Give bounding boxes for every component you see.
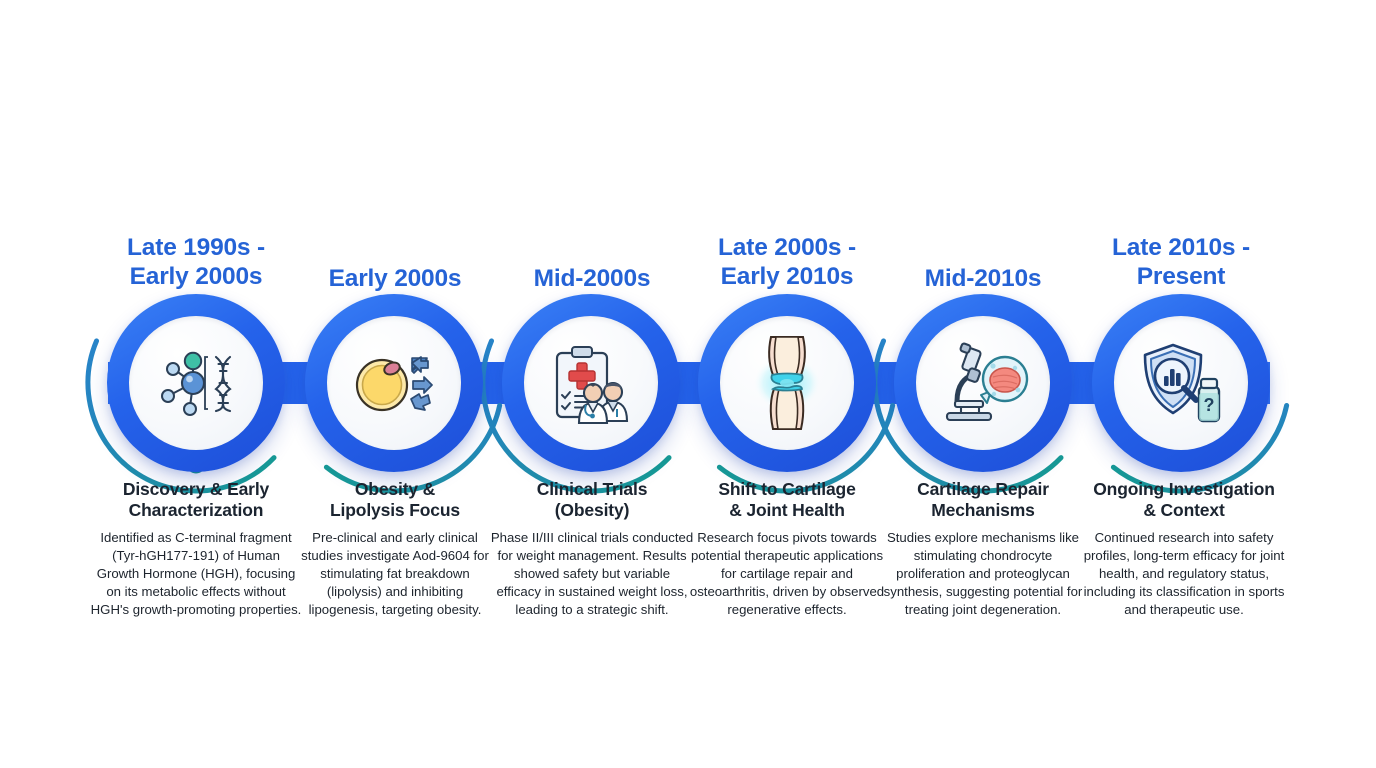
- step-description-2: Pre-clinical and early clinical studies …: [293, 529, 497, 619]
- timeline-node-1[interactable]: [107, 294, 285, 472]
- step-description-3: Phase II/III clinical trials conducted f…: [490, 529, 694, 619]
- step-title-5: Cartilage Repair Mechanisms: [880, 479, 1086, 521]
- shield-magnifier-vial-icon: ?: [1114, 316, 1248, 450]
- step-title-4: Shift to Cartilage & Joint Health: [683, 479, 891, 521]
- period-label-5: Mid-2010s: [880, 265, 1086, 294]
- step-description-5: Studies explore mechanisms like stimulat…: [880, 529, 1086, 619]
- timeline-node-6[interactable]: ?: [1092, 294, 1270, 472]
- caption-6: Ongoing Investigation & Context Continue…: [1072, 479, 1296, 619]
- vial: ?: [1199, 379, 1219, 421]
- step-description-1: Identified as C-terminal fragment (Tyr-h…: [90, 529, 302, 619]
- step-description-6: Continued research into safety profiles,…: [1072, 529, 1296, 619]
- timeline-node-4[interactable]: [698, 294, 876, 472]
- microscope-cells-icon: [916, 316, 1050, 450]
- caption-1: Discovery & Early Characterization Ident…: [90, 479, 302, 619]
- caption-4: Shift to Cartilage & Joint Health Resear…: [683, 479, 891, 619]
- timeline-node-5[interactable]: [894, 294, 1072, 472]
- period-label-6: Late 2010s - Present: [1074, 234, 1288, 292]
- svg-text:?: ?: [1204, 395, 1215, 415]
- fat-cell-lipolysis-icon: [327, 316, 461, 450]
- timeline-infographic: Late 1990s - Early 2000s Discovery & Ear…: [0, 0, 1376, 768]
- period-label-1: Late 1990s - Early 2000s: [86, 234, 306, 292]
- timeline-node-3[interactable]: [502, 294, 680, 472]
- step-title-1: Discovery & Early Characterization: [90, 479, 302, 521]
- clipboard-doctors-icon: [524, 316, 658, 450]
- step-description-4: Research focus pivots towards potential …: [683, 529, 891, 619]
- knee-joint-icon: [720, 316, 854, 450]
- period-label-2: Early 2000s: [290, 265, 500, 294]
- step-title-6: Ongoing Investigation & Context: [1072, 479, 1296, 521]
- period-label-4: Late 2000s - Early 2010s: [680, 234, 894, 292]
- caption-2: Obesity & Lipolysis Focus Pre-clinical a…: [293, 479, 497, 619]
- period-label-3: Mid-2000s: [488, 265, 696, 294]
- molecule-dna-icon: [129, 316, 263, 450]
- caption-3: Clinical Trials (Obesity) Phase II/III c…: [490, 479, 694, 619]
- step-title-2: Obesity & Lipolysis Focus: [293, 479, 497, 521]
- step-title-3: Clinical Trials (Obesity): [490, 479, 694, 521]
- caption-5: Cartilage Repair Mechanisms Studies expl…: [880, 479, 1086, 619]
- timeline-node-2[interactable]: [305, 294, 483, 472]
